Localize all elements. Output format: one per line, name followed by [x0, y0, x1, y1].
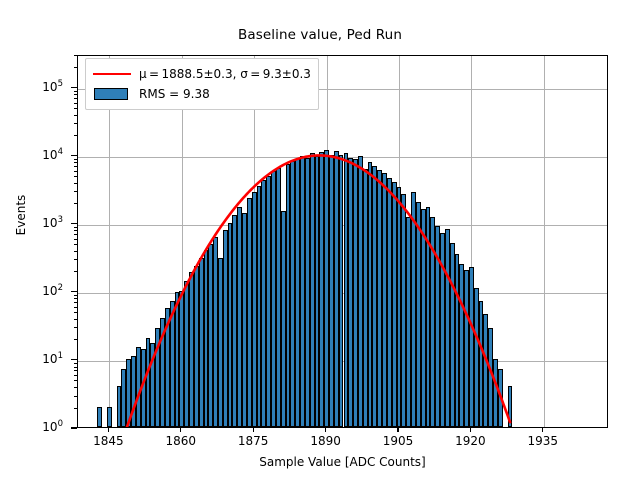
x-tick-mark — [542, 428, 543, 432]
legend-label-hist: RMS = 9.38 — [139, 87, 210, 101]
x-tick-label: 1920 — [440, 434, 500, 448]
x-tick-mark — [108, 428, 109, 432]
y-tick-label: 101 — [17, 353, 63, 365]
legend-label-fit: μ = 1888.5±0.3, σ = 9.3±0.3 — [139, 67, 311, 81]
y-tick-label: 105 — [17, 81, 63, 93]
y-tick-label: 102 — [17, 285, 63, 297]
histogram-bar — [107, 407, 112, 428]
histogram-bar — [508, 386, 513, 427]
x-tick-label: 1905 — [368, 434, 428, 448]
x-tick-label: 1875 — [223, 434, 283, 448]
x-tick-mark — [253, 428, 254, 432]
page-title: Baseline value, Ped Run — [0, 27, 640, 43]
x-axis-label: Sample Value [ADC Counts] — [77, 455, 608, 469]
x-tick-mark — [325, 428, 326, 432]
y-tick-label: 100 — [17, 421, 63, 433]
y-tick-label: 104 — [17, 149, 63, 161]
x-tick-label: 1860 — [151, 434, 211, 448]
chart-legend: μ = 1888.5±0.3, σ = 9.3±0.3 RMS = 9.38 — [85, 58, 319, 110]
legend-entry-hist: RMS = 9.38 — [93, 84, 311, 104]
y-axis-label: Events — [14, 155, 28, 275]
figure-canvas: Baseline value, Ped Run Events 100101102… — [0, 0, 640, 480]
x-tick-label: 1890 — [296, 434, 356, 448]
x-tick-label: 1935 — [513, 434, 573, 448]
histogram-bar — [498, 369, 503, 427]
x-tick-mark — [470, 428, 471, 432]
legend-entry-fit: μ = 1888.5±0.3, σ = 9.3±0.3 — [93, 64, 311, 84]
plot-area — [77, 55, 608, 428]
histogram-bar — [97, 407, 102, 428]
fit-line-swatch-icon — [93, 67, 131, 81]
x-tick-label: 1845 — [78, 434, 138, 448]
gridline-vertical — [109, 56, 110, 427]
x-tick-mark — [397, 428, 398, 432]
histogram-patch-swatch-icon — [93, 87, 131, 101]
x-tick-mark — [180, 428, 181, 432]
y-tick-label: 103 — [17, 217, 63, 229]
gridline-vertical — [544, 56, 545, 427]
